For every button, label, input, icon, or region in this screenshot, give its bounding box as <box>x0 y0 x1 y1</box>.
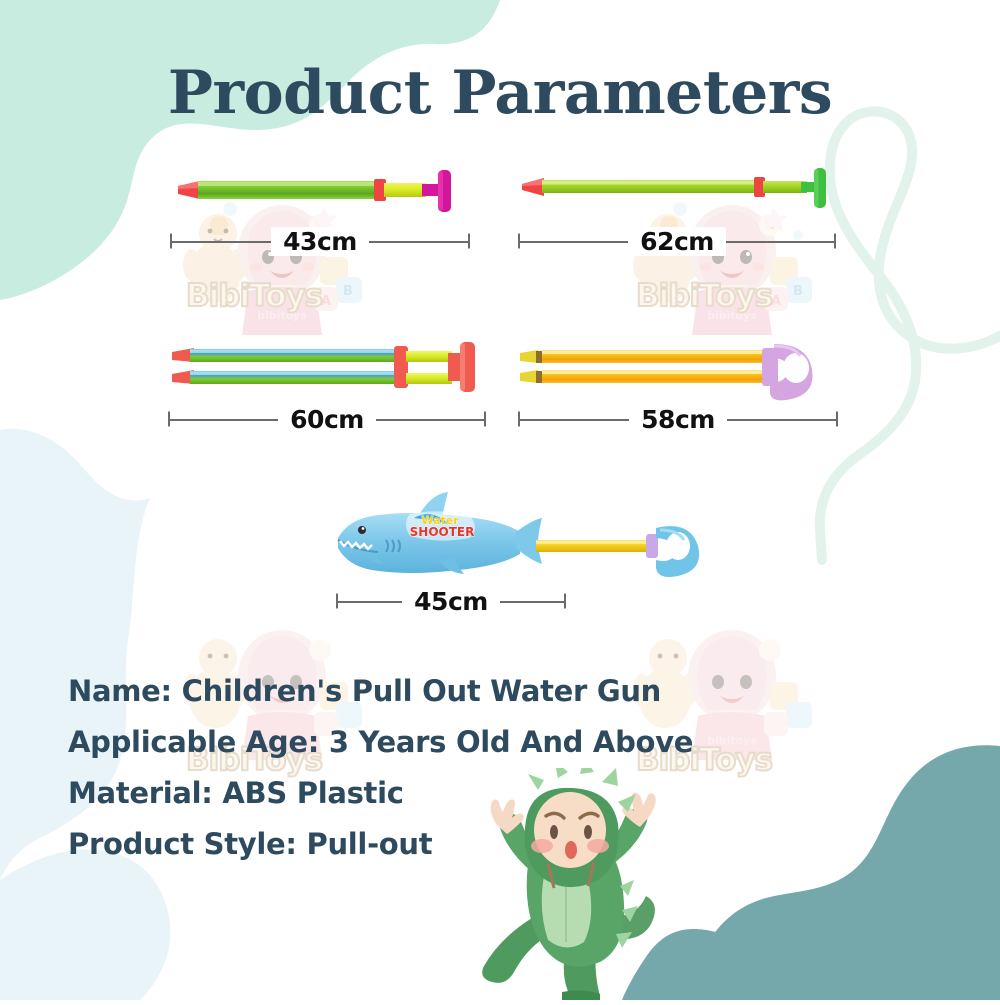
svg-text:A: A <box>321 294 331 309</box>
dimension-cap-right <box>564 594 566 609</box>
product-image-62cm <box>518 162 836 224</box>
product-block-60cm: 60cm <box>168 340 486 432</box>
dimension-bar-58cm: 58cm <box>518 406 838 432</box>
teal-wave-bottom-right-upper <box>688 745 1000 1000</box>
svg-text:B: B <box>343 284 353 299</box>
dimension-label-45cm: 45cm <box>402 587 500 616</box>
product-image-45cm-shark: Water SHOOTER <box>330 484 710 584</box>
spec-line-material: Material: ABS Plastic <box>68 768 693 819</box>
dimension-bar-60cm: 60cm <box>168 406 486 432</box>
product-block-58cm: 58cm <box>518 340 838 432</box>
watermark-wordmark-1: BibiToys <box>186 278 322 314</box>
spec-list: Name: Children's Pull Out Water Gun Appl… <box>68 666 693 870</box>
dimension-cap-right <box>468 234 470 249</box>
dimension-label-58cm: 58cm <box>629 405 727 434</box>
dimension-bar-43cm: 43cm <box>170 228 470 254</box>
product-parameters-page: bibitoys B A BibiToys <box>0 0 1000 1000</box>
shark-decal: Water SHOOTER <box>406 511 475 540</box>
dimension-label-62cm: 62cm <box>628 227 726 256</box>
svg-text:A: A <box>771 294 781 309</box>
watermark-wordmark-2: BibiToys <box>636 278 772 314</box>
svg-text:SHOOTER: SHOOTER <box>410 525 475 539</box>
mint-squiggle-right <box>820 111 1000 560</box>
product-block-43cm: 43cm <box>170 168 470 254</box>
svg-text:bibitoys: bibitoys <box>257 309 307 322</box>
svg-text:B: B <box>793 284 803 299</box>
svg-text:bibitoys: bibitoys <box>707 734 757 747</box>
dimension-cap-right <box>484 412 486 427</box>
dimension-label-43cm: 43cm <box>271 227 369 256</box>
dimension-bar-45cm: 45cm <box>336 588 566 614</box>
dimension-cap-right <box>834 234 836 249</box>
dimension-label-60cm: 60cm <box>278 405 376 434</box>
product-block-45cm: Water SHOOTER 45cm <box>330 484 710 614</box>
product-block-62cm: 62cm <box>518 162 836 254</box>
product-image-60cm <box>168 340 486 402</box>
spec-line-product-style: Product Style: Pull-out <box>68 819 693 870</box>
mint-blob-top-left <box>0 0 500 300</box>
product-image-58cm <box>518 340 838 402</box>
svg-text:bibitoys: bibitoys <box>707 309 757 322</box>
product-image-43cm <box>170 168 470 224</box>
page-title: Product Parameters <box>0 58 1000 128</box>
spec-line-name: Name: Children's Pull Out Water Gun <box>68 666 693 717</box>
dimension-cap-right <box>836 412 838 427</box>
pale-blue-blob-bottom-left <box>0 849 170 1000</box>
spec-line-applicable-age: Applicable Age: 3 Years Old And Above <box>68 717 693 768</box>
dimension-bar-62cm: 62cm <box>518 228 836 254</box>
